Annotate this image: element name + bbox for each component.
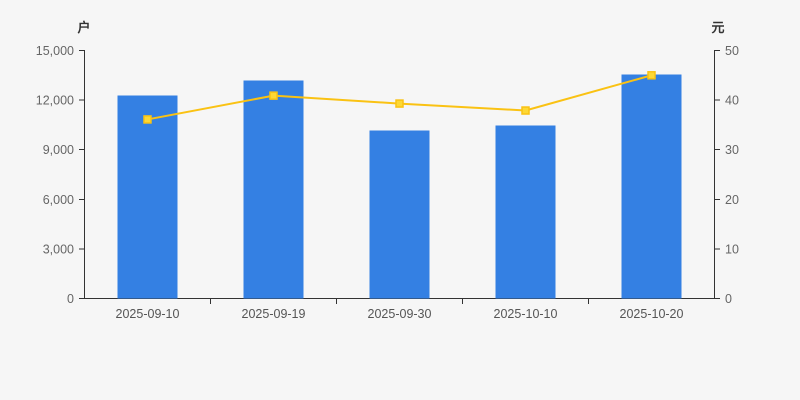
left-axis-ticks: 15,000 12,000 9,000 6,000 3,000 0 (36, 44, 85, 306)
category-label: 2025-09-30 (368, 307, 432, 321)
category-label: 2025-09-10 (116, 307, 180, 321)
left-tick-label: 9,000 (43, 143, 74, 157)
category-label: 2025-09-19 (242, 307, 306, 321)
right-tick-label: 50 (725, 44, 739, 58)
x-axis-category-separators (211, 299, 589, 305)
bar-series (118, 74, 682, 298)
bar[interactable] (118, 95, 178, 298)
right-tick-label: 20 (725, 193, 739, 207)
x-axis-category-labels: 2025-09-10 2025-09-19 2025-09-30 2025-10… (116, 307, 684, 321)
bar[interactable] (496, 126, 556, 299)
chart-container: 户 元 15,000 12,000 9,000 6,000 3,000 0 (0, 0, 800, 400)
bar[interactable] (244, 81, 304, 299)
line-path (148, 75, 652, 119)
right-tick-label: 10 (725, 242, 739, 256)
line-marker[interactable] (144, 116, 151, 123)
left-tick-label: 6,000 (43, 193, 74, 207)
right-axis-unit-label: 元 (711, 20, 724, 35)
left-tick-label: 15,000 (36, 44, 74, 58)
dual-axis-bar-line-chart: 户 元 15,000 12,000 9,000 6,000 3,000 0 (0, 0, 800, 400)
line-series (144, 72, 655, 123)
right-tick-label: 0 (725, 292, 732, 306)
bar[interactable] (622, 74, 682, 298)
right-axis-ticks: 50 40 30 20 10 0 (715, 44, 739, 306)
left-axis-unit-label: 户 (77, 20, 90, 35)
left-tick-label: 3,000 (43, 242, 74, 256)
category-label: 2025-10-20 (620, 307, 684, 321)
left-tick-label: 0 (67, 292, 74, 306)
category-label: 2025-10-10 (494, 307, 558, 321)
line-marker[interactable] (648, 72, 655, 79)
right-tick-label: 40 (725, 94, 739, 108)
bar[interactable] (370, 131, 430, 299)
line-marker[interactable] (522, 107, 529, 114)
line-marker[interactable] (396, 100, 403, 107)
left-tick-label: 12,000 (36, 94, 74, 108)
line-marker[interactable] (270, 92, 277, 99)
right-tick-label: 30 (725, 143, 739, 157)
